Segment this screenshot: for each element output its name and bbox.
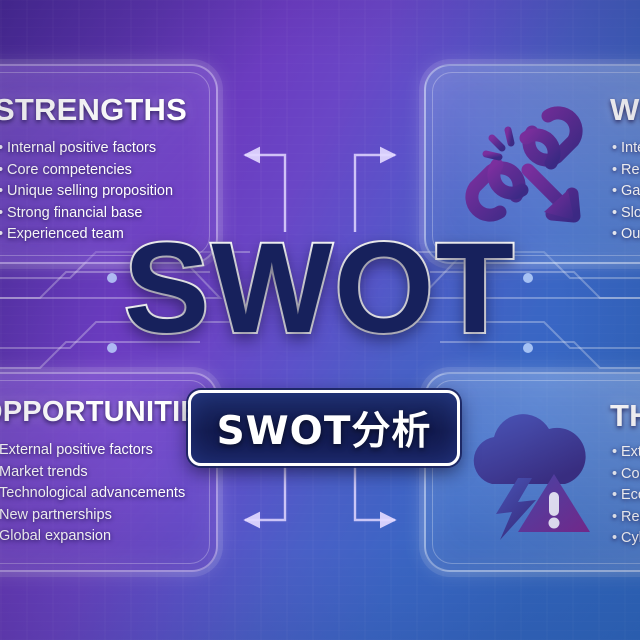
broken-chain-icon — [456, 94, 596, 234]
list-item: •Internal negative factors — [612, 138, 640, 160]
list-item: •Regulatory changes — [612, 507, 640, 529]
bullet-dot-icon: • — [612, 442, 621, 464]
bullet-dot-icon: • — [612, 138, 621, 160]
list-item: •Slow processes — [612, 203, 640, 225]
cloud-shape — [474, 414, 586, 484]
list-item: •Market trends — [0, 462, 185, 484]
swot-infographic: STRENGTHS •Internal positive factors •Co… — [0, 0, 640, 640]
bullet-dot-icon: • — [612, 203, 621, 225]
bullet-dot-icon: • — [612, 485, 621, 507]
bullet-dot-icon: • — [0, 138, 7, 160]
list-item: •Core competencies — [0, 160, 173, 182]
list-item: •Resource limitations — [612, 160, 640, 182]
quadrant-opportunities[interactable]: OPPORTUNITIES •External positive factors… — [0, 372, 218, 572]
bullet-dot-icon: • — [612, 507, 621, 529]
list-item: •Competition — [612, 464, 640, 486]
quadrant-bullets-opportunities: •External positive factors •Market trend… — [0, 440, 185, 548]
list-item: •Gaps in capabilities — [612, 181, 640, 203]
bullet-dot-icon: • — [612, 464, 621, 486]
bullet-dot-icon: • — [0, 203, 7, 225]
bullet-dot-icon: • — [0, 181, 7, 203]
bullet-dot-icon: • — [612, 160, 621, 182]
list-item: •Economic downturn — [612, 485, 640, 507]
swot-analysis-badge: SWOT分析 — [188, 390, 460, 466]
quadrant-title-weaknesses: WEAKNESSES — [610, 92, 640, 128]
swot-wordmark: SWOT — [0, 225, 640, 353]
list-item: •New partnerships — [0, 505, 185, 527]
list-item: •Cyber risks — [612, 528, 640, 550]
quadrant-title-threats: THREATS — [610, 398, 640, 434]
list-item: •External negative factors — [612, 442, 640, 464]
quadrant-title-opportunities: OPPORTUNITIES — [0, 396, 218, 429]
bullet-dot-icon: • — [0, 160, 7, 182]
swot-wordmark-text: SWOT — [124, 217, 516, 360]
list-item: •Unique selling proposition — [0, 181, 173, 203]
quadrant-bullets-threats: •External negative factors •Competition … — [612, 442, 640, 550]
list-item: •Internal positive factors — [0, 138, 173, 160]
bullet-dot-icon: • — [612, 528, 621, 550]
quadrant-title-strengths: STRENGTHS — [0, 92, 187, 128]
list-item: •External positive factors — [0, 440, 185, 462]
bullet-dot-icon: • — [612, 181, 621, 203]
list-item: •Global expansion — [0, 526, 185, 548]
storm-warning-icon — [456, 402, 596, 542]
list-item: •Technological advancements — [0, 483, 185, 505]
badge-label: SWOT分析 — [217, 400, 432, 456]
